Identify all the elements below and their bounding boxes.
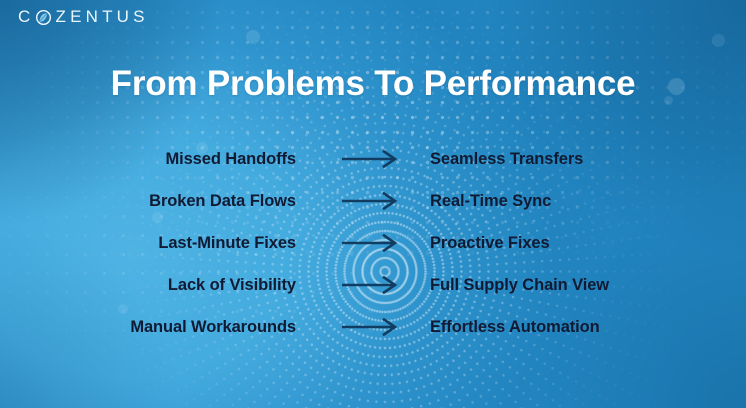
outcome-label: Proactive Fixes — [430, 234, 746, 253]
arrow-right-icon — [310, 276, 430, 294]
transformation-row: Lack of Visibility Full Supply Chain Vie… — [0, 264, 746, 306]
logo-text-zentus: ZENTUS — [55, 7, 148, 27]
page-title: From Problems To Performance — [0, 62, 746, 106]
leaf-o-icon — [35, 9, 52, 26]
transformation-row: Missed Handoffs Seamless Transfers — [0, 138, 746, 180]
outcome-label: Effortless Automation — [430, 318, 746, 337]
bokeh-circle — [712, 34, 725, 47]
transformation-list: Missed Handoffs Seamless Transfers Broke… — [0, 138, 746, 348]
logo-text-c: C — [18, 7, 34, 27]
problem-label: Lack of Visibility — [0, 276, 310, 295]
slide-canvas: C ZENTUS From Problems To Performance Mi… — [0, 0, 746, 408]
brand-logo[interactable]: C ZENTUS — [18, 7, 149, 27]
problem-label: Manual Workarounds — [0, 318, 310, 337]
transformation-row: Broken Data Flows Real-Time Sync — [0, 180, 746, 222]
bokeh-circle — [246, 30, 260, 44]
outcome-label: Full Supply Chain View — [430, 276, 746, 295]
problem-label: Broken Data Flows — [0, 192, 310, 211]
arrow-right-icon — [310, 234, 430, 252]
arrow-right-icon — [310, 318, 430, 336]
arrow-right-icon — [310, 150, 430, 168]
problem-label: Missed Handoffs — [0, 150, 310, 169]
outcome-label: Real-Time Sync — [430, 192, 746, 211]
transformation-row: Last-Minute Fixes Proactive Fixes — [0, 222, 746, 264]
arrow-right-icon — [310, 192, 430, 210]
transformation-row: Manual Workarounds Effortless Automation — [0, 306, 746, 348]
outcome-label: Seamless Transfers — [430, 150, 746, 169]
problem-label: Last-Minute Fixes — [0, 234, 310, 253]
